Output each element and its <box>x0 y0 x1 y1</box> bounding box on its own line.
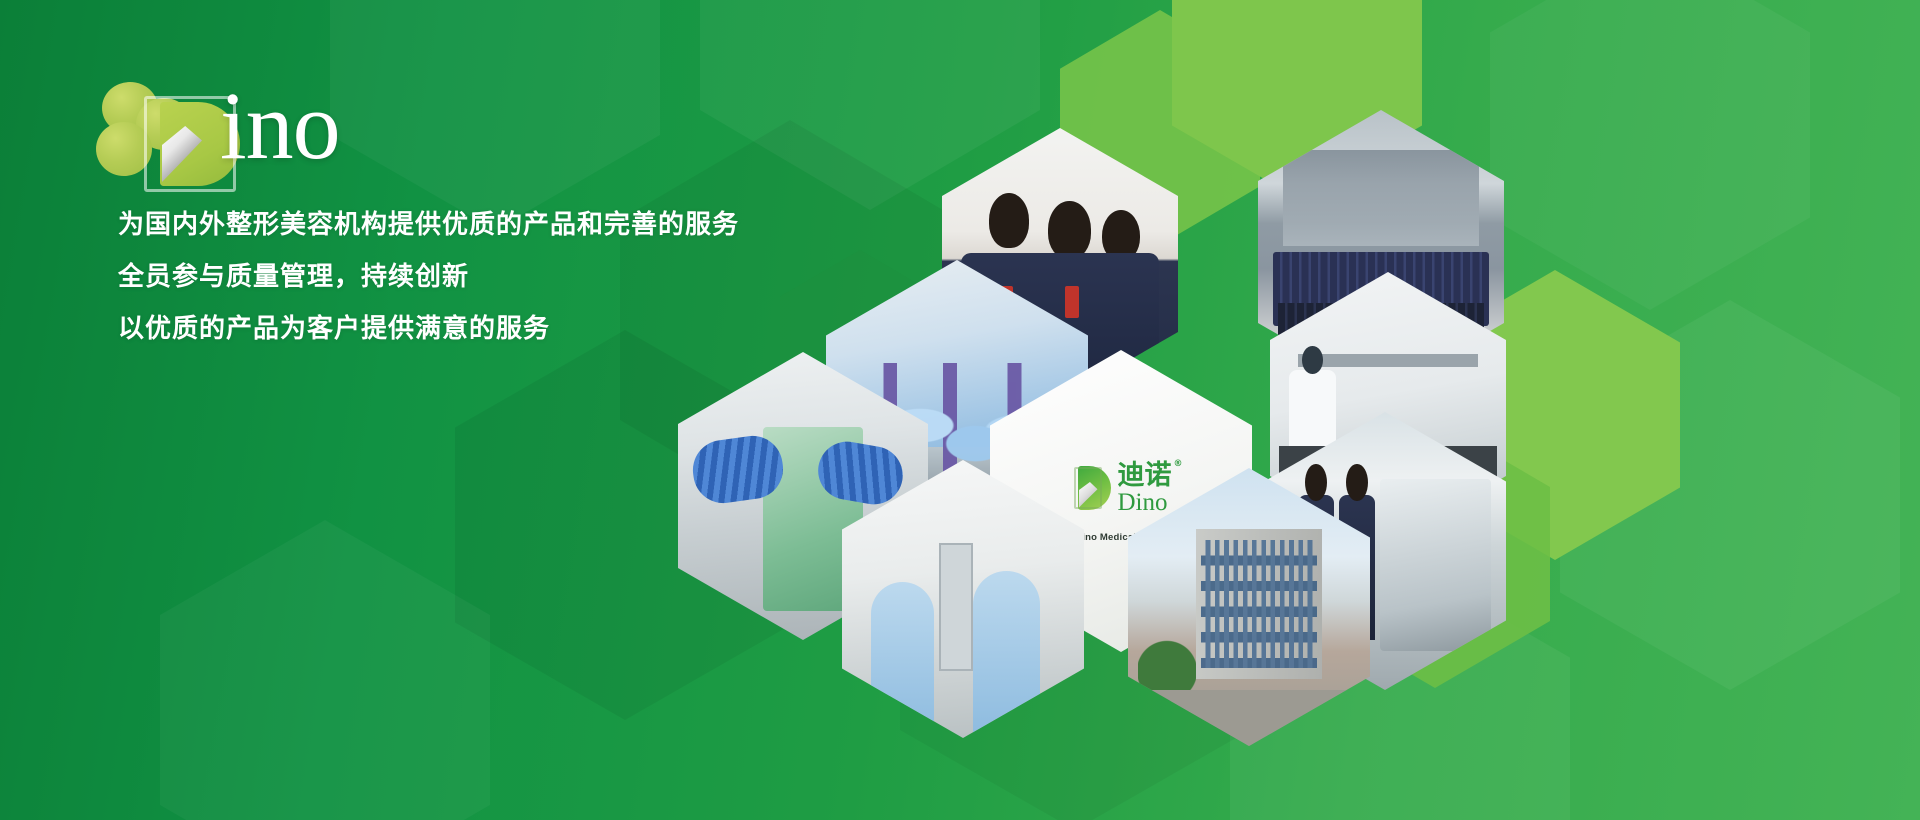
center-logo-cn-name: 迪诺® <box>1118 462 1172 489</box>
dino-d-mark-icon <box>1071 466 1111 510</box>
brand-logo: ino <box>92 72 392 182</box>
hexagon-photo-cluster: 迪诺® Dino Hangzhou Dino Medical Instrumen… <box>660 60 1560 680</box>
brand-wordmark-text: ino <box>220 78 340 174</box>
slogan-line-1: 为国内外整形美容机构提供优质的产品和完善的服务 <box>118 212 739 238</box>
hero-banner: ino 为国内外整形美容机构提供优质的产品和完善的服务 全员参与质量管理，持续创… <box>0 0 1920 820</box>
center-logo-row: 迪诺® Dino <box>1071 462 1172 515</box>
slogan-line-2: 全员参与质量管理，持续创新 <box>118 264 739 290</box>
center-logo-en-name: Dino <box>1118 490 1168 515</box>
registered-trademark-icon: ® <box>1174 460 1183 469</box>
slogan-line-3: 以优质的产品为客户提供满意的服务 <box>118 316 739 342</box>
bg-hexagon-3 <box>160 520 490 820</box>
slogan-list: 为国内外整形美容机构提供优质的产品和完善的服务 全员参与质量管理，持续创新 以优… <box>118 212 739 368</box>
